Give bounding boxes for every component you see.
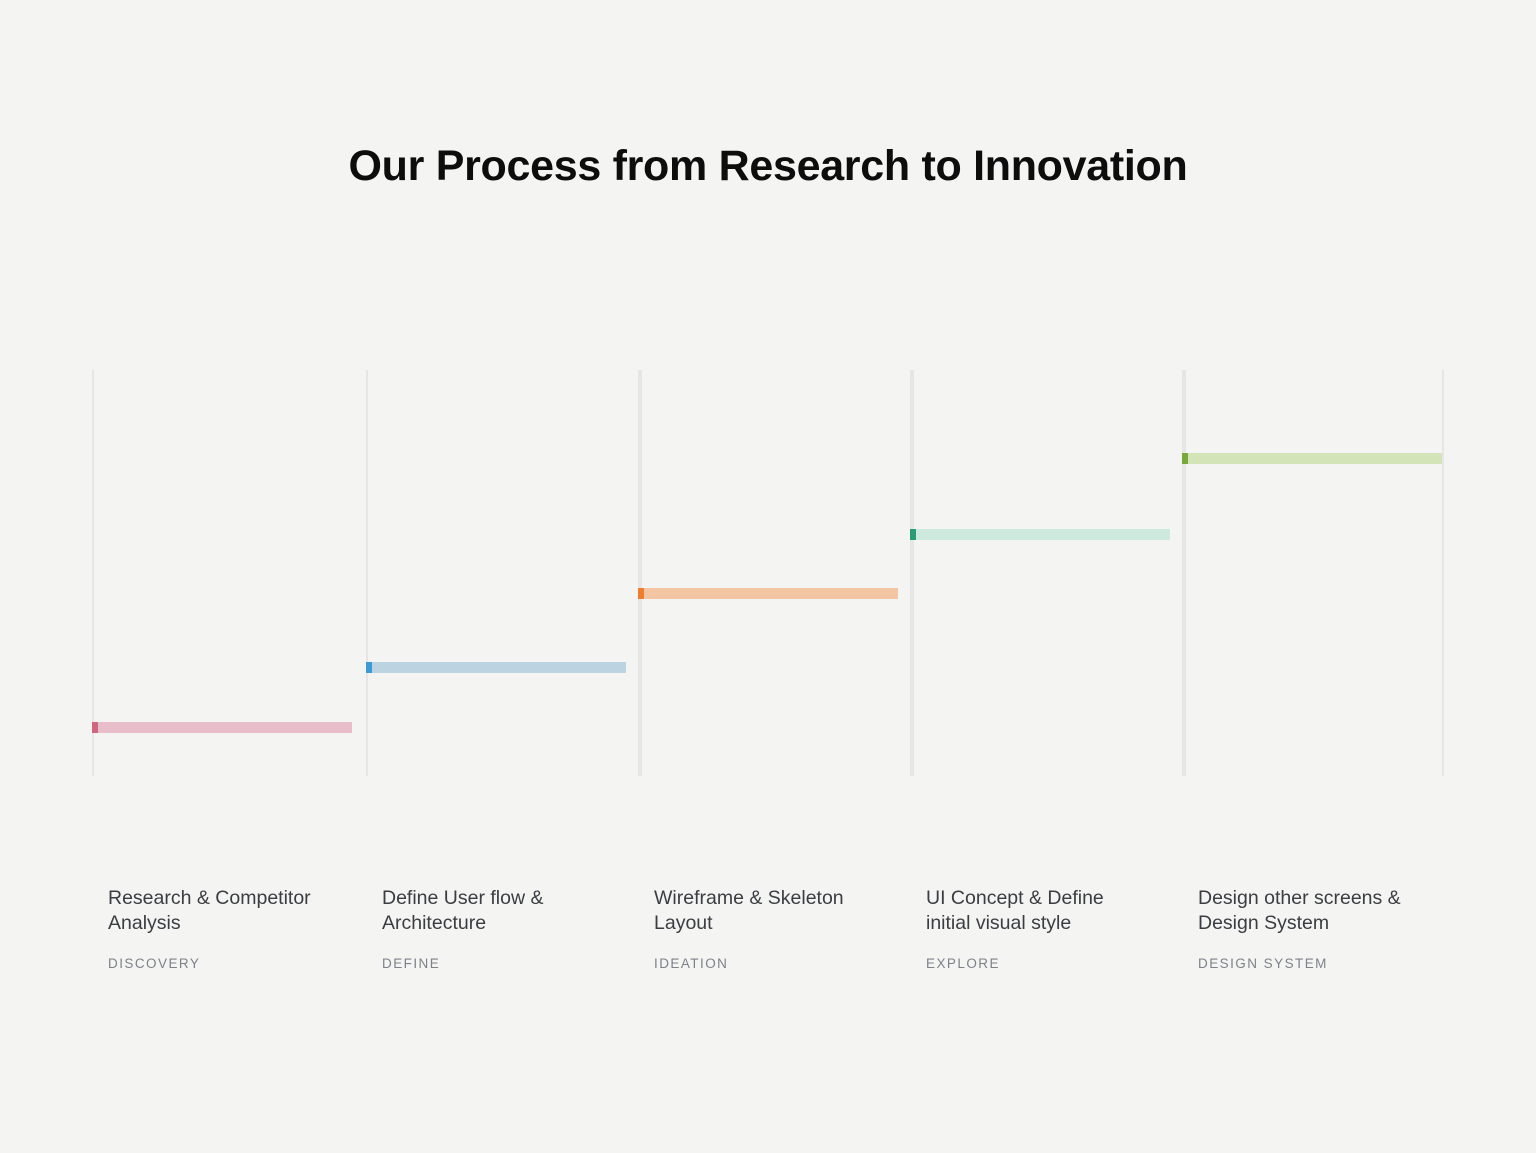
column-guide-rail-right	[1442, 370, 1444, 776]
column-guide-rail-left	[638, 370, 640, 776]
process-step-column-4	[910, 370, 1186, 776]
bar-body	[644, 588, 898, 599]
process-step-column-3	[638, 370, 914, 776]
column-guide-rail-left	[366, 370, 368, 776]
process-step-label-4[interactable]: UI Concept & Define initial visual style…	[926, 886, 1176, 972]
process-step-bar-5[interactable]	[1182, 453, 1442, 464]
process-step-bar-2[interactable]	[366, 662, 626, 673]
process-step-column-2	[366, 370, 642, 776]
process-step-column-5	[1182, 370, 1444, 776]
column-guide-rail-left	[1182, 370, 1184, 776]
step-title: Design other screens & Design System	[1198, 886, 1448, 935]
process-step-bar-3[interactable]	[638, 588, 898, 599]
step-title: Wireframe & Skeleton Layout	[654, 886, 904, 935]
process-step-label-1[interactable]: Research & Competitor AnalysisDISCOVERY	[108, 886, 358, 972]
page-title: Our Process from Research to Innovation	[0, 142, 1536, 191]
process-step-bar-1[interactable]	[92, 722, 352, 733]
process-step-label-5[interactable]: Design other screens & Design SystemDESI…	[1198, 886, 1448, 972]
step-caption: EXPLORE	[926, 956, 1176, 972]
process-step-column-1	[92, 370, 368, 776]
bar-body	[1188, 453, 1442, 464]
column-guide-rail-left	[910, 370, 912, 776]
process-step-bar-4[interactable]	[910, 529, 1170, 540]
bar-body	[916, 529, 1170, 540]
process-chart	[92, 370, 1444, 776]
bar-body	[372, 662, 626, 673]
step-title: Define User flow & Architecture	[382, 886, 632, 935]
process-step-label-3[interactable]: Wireframe & Skeleton LayoutIDEATION	[654, 886, 904, 972]
step-caption: DISCOVERY	[108, 956, 358, 972]
step-title: UI Concept & Define initial visual style	[926, 886, 1176, 935]
step-title: Research & Competitor Analysis	[108, 886, 358, 935]
step-caption: DEFINE	[382, 956, 632, 972]
step-caption: IDEATION	[654, 956, 904, 972]
process-step-label-2[interactable]: Define User flow & ArchitectureDEFINE	[382, 886, 632, 972]
column-guide-rail-left	[92, 370, 94, 776]
bar-body	[98, 722, 352, 733]
process-legend: Research & Competitor AnalysisDISCOVERYD…	[92, 886, 1444, 1016]
step-caption: DESIGN SYSTEM	[1198, 956, 1448, 972]
